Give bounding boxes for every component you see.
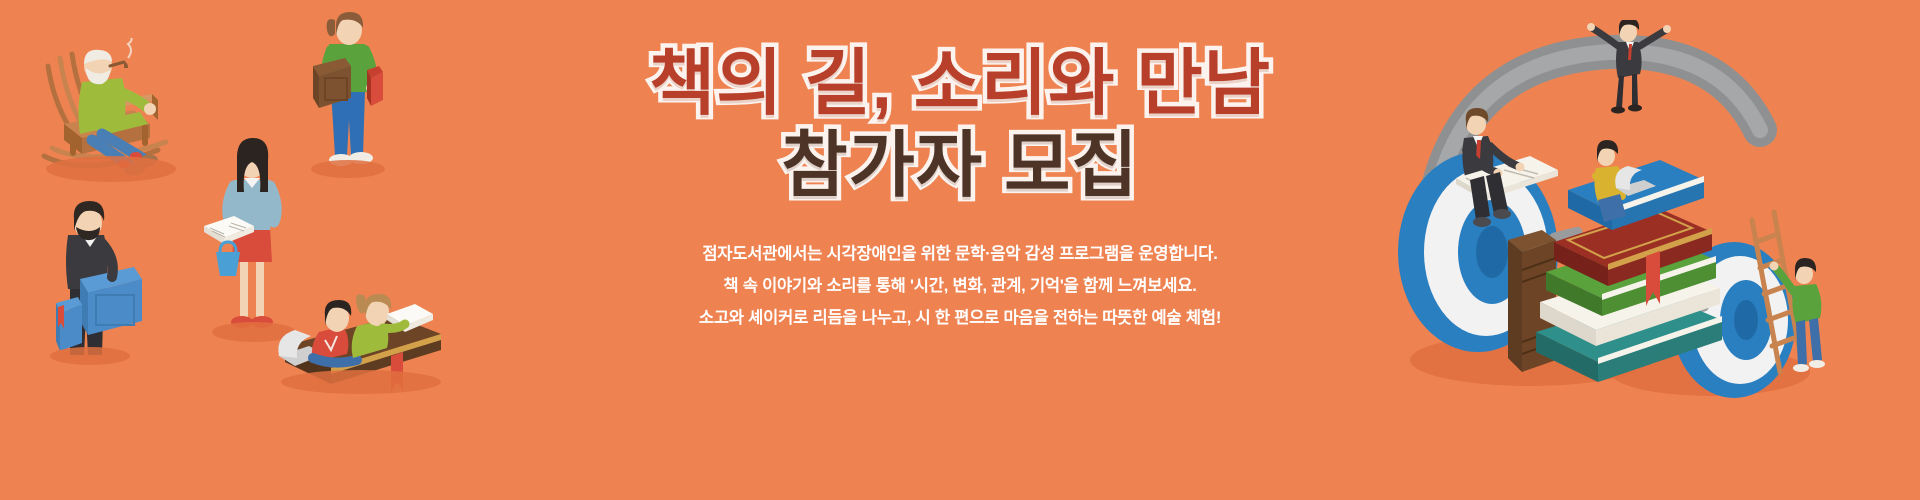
old-man-rocking-chair-illustration — [30, 38, 200, 188]
banner-subtitle-line-2: 책 속 이야기와 소리를 통해 '시간, 변화, 관계, 기억'을 함께 느껴보… — [480, 270, 1440, 302]
banner-title-line-1: 책의 길, 소리와 만남 — [480, 48, 1440, 120]
man-with-blue-book-illustration — [42, 195, 152, 365]
banner-text-block: 책의 길, 소리와 만남 참가자 모집 점자도서관에서는 시각장애인을 위한 문… — [480, 48, 1440, 335]
student-green-sweater-illustration — [305, 8, 395, 183]
banner-subtitle-line-3: 소고와 셰이커로 리듬을 나누고, 시 한 편으로 마음을 전하는 따뜻한 예술… — [480, 302, 1440, 334]
student-green-svg — [305, 8, 395, 183]
banner-subtitle-block: 점자도서관에서는 시각장애인을 위한 문학·음악 감성 프로그램을 운영합니다.… — [480, 238, 1440, 335]
banner-title-line-2: 참가자 모집 — [480, 130, 1440, 202]
banner-subtitle-line-1: 점자도서관에서는 시각장애인을 위한 문학·음악 감성 프로그램을 운영합니다. — [480, 238, 1440, 270]
man-blue-book-svg — [42, 195, 152, 370]
couple-reading-on-books-illustration — [265, 250, 460, 400]
banner-root: 책의 길, 소리와 만남 참가자 모집 점자도서관에서는 시각장애인을 위한 문… — [0, 0, 1920, 500]
